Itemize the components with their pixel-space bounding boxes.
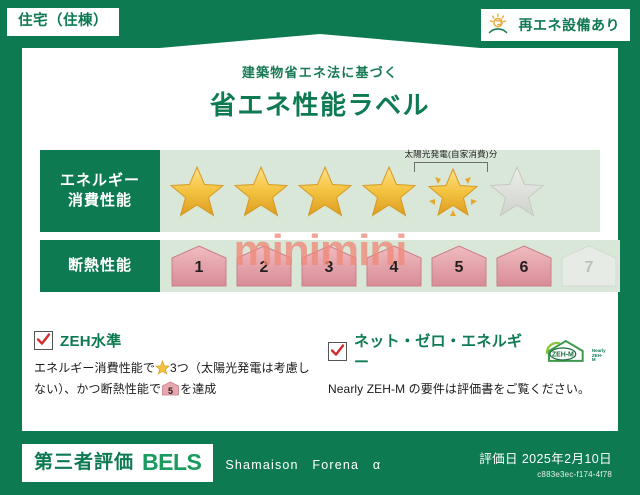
insulation-grade-1: 1: [168, 244, 230, 288]
insulation-grade-2: 2: [233, 244, 295, 288]
zeh-standard-column: ZEH水準 エネルギー消費性能で3つ（太陽光発電は考慮しない）、かつ断熱性能で5…: [34, 330, 312, 400]
check-icon: [328, 342, 347, 361]
insulation-label-text: 断熱性能: [68, 256, 132, 276]
insulation-grade-3: 3: [298, 244, 360, 288]
energy-row-label: エネルギー 消費性能: [40, 150, 160, 232]
solar-annotation-label: 太陽光発電(自家消費)分: [392, 148, 510, 160]
title-subtitle: 建築物省エネ法に基づく: [0, 62, 640, 81]
insulation-row-body: 1 2 3 4: [160, 240, 620, 292]
zeh-standard-header: ZEH水準: [34, 330, 312, 351]
zeh-standard-title: ZEH水準: [60, 330, 122, 351]
sun-solar-icon: [487, 13, 513, 37]
star-filled-5-solar: [422, 160, 484, 222]
net-zero-energy-column: ネット・ゼロ・エネルギー ZEH-M Nearly ZEH-M Nearly Z…: [328, 330, 606, 400]
insulation-grade-5-number: 5: [428, 259, 490, 277]
zeh-body-starcount: 3つ（太陽光発電: [170, 361, 261, 375]
zeh-m-sub-line2: ZEH-M: [592, 353, 603, 363]
energy-label-line1: エネルギー: [60, 171, 140, 191]
evaluation-date: 評価日 2025年2月10日: [479, 448, 612, 467]
building-name: Shamaison Forena α: [225, 454, 381, 473]
net-zero-title: ネット・ゼロ・エネルギー: [354, 330, 534, 372]
renewable-badge-label: 再エネ設備あり: [519, 18, 621, 32]
insulation-grade-6-number: 6: [493, 259, 555, 277]
evaluation-id: c883e3ec-f174-4f78: [479, 470, 612, 479]
zeh-body-pre: エネルギー消費性能で: [34, 361, 155, 375]
bels-jp-label: 第三者評価: [34, 453, 134, 472]
bels-certification-tag: 第三者評価 BELS: [22, 444, 213, 482]
insulation-grade-6: 6: [493, 244, 555, 288]
insulation-grade-2-number: 2: [233, 259, 295, 277]
insulation-grade-1-number: 1: [168, 259, 230, 277]
evaluation-info: 評価日 2025年2月10日 c883e3ec-f174-4f78: [479, 448, 612, 479]
star-filled-2: [230, 160, 292, 222]
house-type-tag: 住宅（住棟）: [7, 8, 119, 36]
inline-house-grade: 5: [161, 384, 180, 400]
insulation-grade-5: 5: [428, 244, 490, 288]
energy-consumption-row: エネルギー 消費性能: [40, 150, 600, 232]
insulation-row-label: 断熱性能: [40, 240, 160, 292]
star-filled-4: [358, 160, 420, 222]
criteria-columns: ZEH水準 エネルギー消費性能で3つ（太陽光発電は考慮しない）、かつ断熱性能で5…: [34, 330, 606, 400]
insulation-performance-row: 断熱性能 1 2 3: [40, 240, 600, 292]
insulation-grade-4: 4: [363, 244, 425, 288]
footer: 第三者評価 BELS Shamaison Forena α 評価日 2025年2…: [0, 431, 640, 495]
zeh-standard-body: エネルギー消費性能で3つ（太陽光発電は考慮しない）、かつ断熱性能で5を達成: [34, 358, 312, 400]
star-empty-6: [486, 160, 548, 222]
zeh-m-logo-subtext: Nearly ZEH-M: [592, 349, 606, 363]
performance-rows: エネルギー 消費性能: [40, 150, 600, 300]
svg-text:ZEH-M: ZEH-M: [552, 352, 574, 359]
zeh-body-post: を達成: [180, 382, 216, 396]
insulation-grade-3-number: 3: [298, 259, 360, 277]
star-filled-1: [166, 160, 228, 222]
inline-star-icon: [155, 360, 170, 375]
insulation-grade-4-number: 4: [363, 259, 425, 277]
inline-house-icon: 5: [161, 381, 180, 396]
bels-en-label: BELS: [142, 451, 201, 474]
insulation-grade-scale: 1 2 3 4: [160, 244, 620, 288]
check-icon: [34, 331, 53, 350]
insulation-grade-7: 7: [558, 244, 620, 288]
renewable-equipment-badge: 再エネ設備あり: [481, 9, 631, 41]
insulation-grade-7-number: 7: [558, 259, 620, 277]
energy-performance-label: 住宅（住棟） 再エネ設備あり 建築物省エネ法に基づく 省エネ性能ラベル: [0, 0, 640, 495]
title-block: 建築物省エネ法に基づく 省エネ性能ラベル: [0, 62, 640, 122]
energy-label-line2: 消費性能: [68, 191, 132, 211]
star-rating: [160, 160, 600, 222]
energy-row-body: 太陽光発電(自家消費)分: [160, 150, 600, 232]
star-filled-3: [294, 160, 356, 222]
net-zero-header: ネット・ゼロ・エネルギー ZEH-M Nearly ZEH-M: [328, 330, 606, 372]
net-zero-body: Nearly ZEH-M の要件は評価書をご覧ください。: [328, 379, 606, 400]
zeh-m-logo: ZEH-M Nearly ZEH-M: [544, 339, 606, 363]
page-title: 省エネ性能ラベル: [0, 85, 640, 122]
